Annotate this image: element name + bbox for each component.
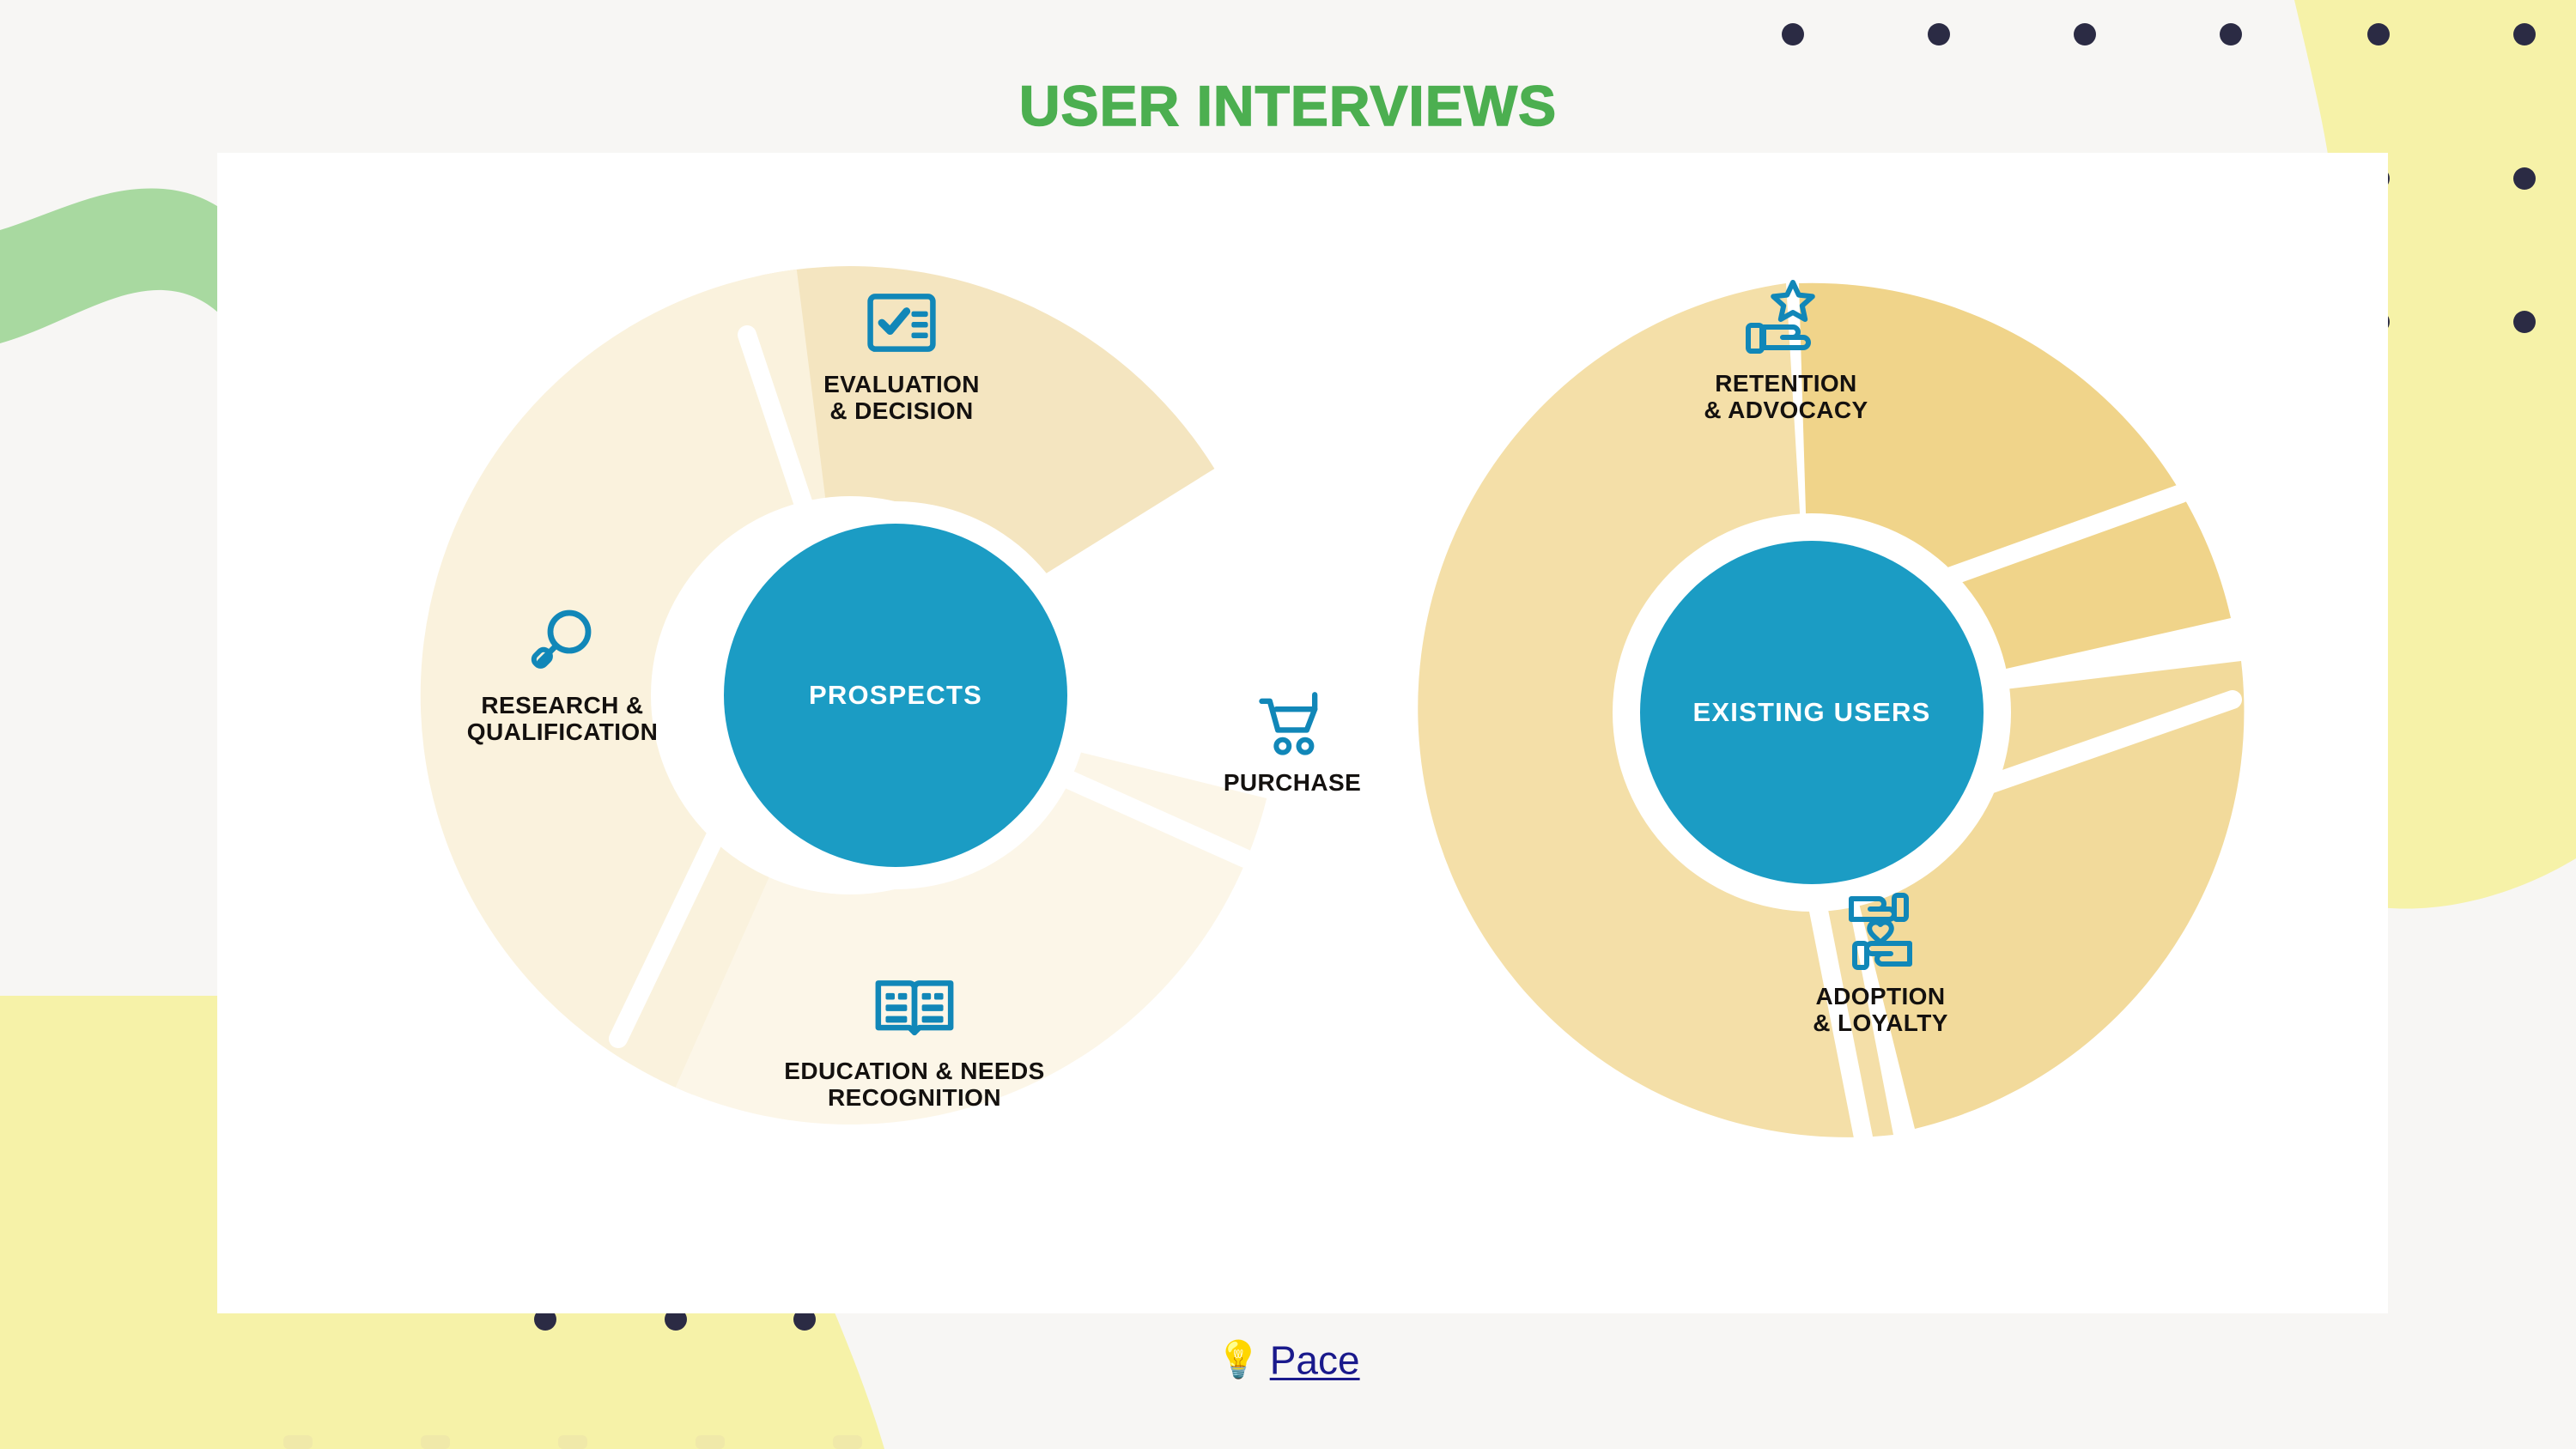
hub-existing-users-label: EXISTING USERS: [1693, 698, 1931, 727]
segment-label-research: RESEARCH & QUALIFICATION: [416, 601, 708, 746]
open-book-icon: [872, 970, 957, 1049]
segment-label-purchase: PURCHASE: [1163, 687, 1421, 796]
hub-existing-users: EXISTING USERS: [1640, 541, 1984, 884]
hands-heart-icon: [1838, 888, 1923, 974]
segment-label-education-text: EDUCATION & NEEDS RECOGNITION: [784, 1058, 1044, 1111]
segment-label-adoption-text: ADOPTION & LOYALTY: [1813, 983, 1948, 1036]
hand-star-icon: [1743, 279, 1829, 361]
segment-label-evaluation-text: EVALUATION & DECISION: [823, 371, 980, 424]
lightbulb-icon: 💡: [1216, 1339, 1261, 1379]
magnifier-icon: [521, 601, 604, 683]
footer: 💡Pace: [0, 1339, 2576, 1379]
segment-label-evaluation: EVALUATION & DECISION: [756, 283, 1048, 425]
segment-label-education: EDUCATION & NEEDS RECOGNITION: [734, 970, 1095, 1112]
hub-prospects-label: PROSPECTS: [809, 681, 982, 710]
pace-link[interactable]: Pace: [1270, 1337, 1360, 1382]
hub-prospects: PROSPECTS: [724, 524, 1067, 867]
segment-label-adoption: ADOPTION & LOYALTY: [1735, 888, 2026, 1037]
segment-label-research-text: RESEARCH & QUALIFICATION: [467, 692, 658, 745]
page-title: USER INTERVIEWS: [0, 73, 2576, 138]
segment-label-purchase-text: PURCHASE: [1224, 769, 1361, 796]
shopping-cart-icon: [1253, 687, 1332, 761]
segment-label-retention: RETENTION & ADVOCACY: [1640, 279, 1932, 424]
blob-yellow-tail: [0, 996, 217, 1317]
segment-label-retention-text: RETENTION & ADVOCACY: [1704, 370, 1868, 423]
checklist-icon: [862, 283, 941, 362]
